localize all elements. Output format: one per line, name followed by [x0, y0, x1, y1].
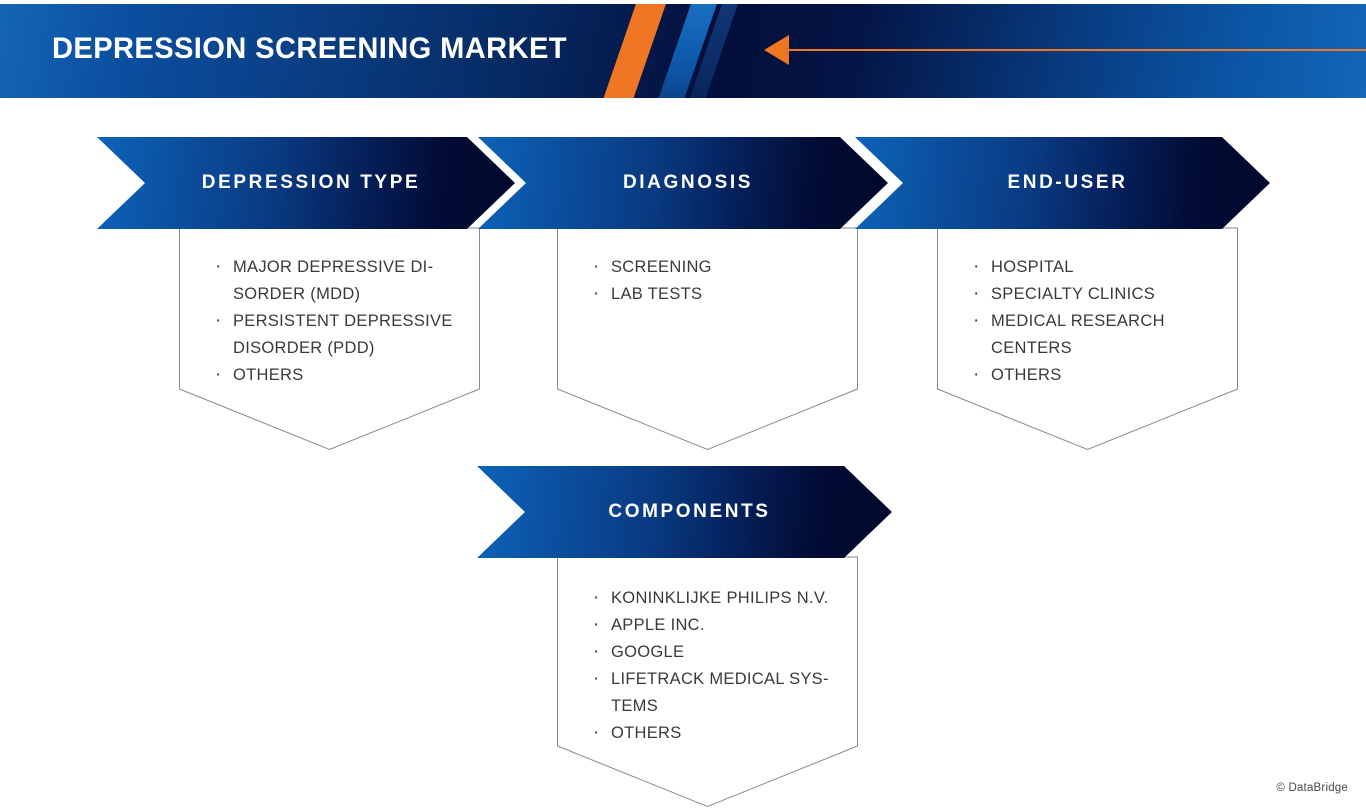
- list-item: PERSISTENT DEPRESSIVE DISORDER (PDD): [213, 308, 466, 362]
- section-body-depression-type: MAJOR DEPRESSIVE DI-SORDER (MDD) PERSIST…: [179, 228, 480, 450]
- section-list-end-user: HOSPITAL SPECIALTY CLINICS MEDICAL RESEA…: [937, 228, 1238, 389]
- list-item: OTHERS: [213, 362, 466, 389]
- list-item: HOSPITAL: [971, 254, 1224, 281]
- list-item: SPECIALTY CLINICS: [971, 281, 1224, 308]
- section-title-diagnosis: DIAGNOSIS: [583, 170, 783, 196]
- section-header-end-user[interactable]: END-USER: [855, 137, 1270, 229]
- list-item: APPLE INC.: [591, 612, 844, 639]
- copyright-notice: © DataBridge: [1276, 782, 1348, 794]
- section-title-depression-type: DEPRESSION TYPE: [162, 170, 451, 196]
- section-header-diagnosis[interactable]: DIAGNOSIS: [478, 137, 888, 229]
- list-item: KONINKLIJKE PHILIPS N.V.: [591, 585, 844, 612]
- section-body-end-user: HOSPITAL SPECIALTY CLINICS MEDICAL RESEA…: [937, 228, 1238, 450]
- section-body-components: KONINKLIJKE PHILIPS N.V. APPLE INC. GOOG…: [557, 557, 858, 807]
- section-list-diagnosis: SCREENING LAB TESTS: [557, 228, 858, 308]
- section-list-depression-type: MAJOR DEPRESSIVE DI-SORDER (MDD) PERSIST…: [179, 228, 480, 389]
- list-item: MEDICAL RESEARCH CENTERS: [971, 308, 1224, 362]
- section-title-components: COMPONENTS: [568, 499, 800, 525]
- section-title-end-user: END-USER: [967, 170, 1157, 196]
- arrow-line: [786, 49, 1366, 51]
- list-item: MAJOR DEPRESSIVE DI-SORDER (MDD): [213, 254, 466, 308]
- section-header-depression-type[interactable]: DEPRESSION TYPE: [97, 137, 515, 229]
- header-banner: DEPRESSION SCREENING MARKET: [0, 4, 1366, 98]
- list-item: SCREENING: [591, 254, 844, 281]
- infographic-canvas: DEPRESSION SCREENING MARKET DEPRESSION T…: [0, 0, 1366, 808]
- list-item: GOOGLE: [591, 639, 844, 666]
- page-title: DEPRESSION SCREENING MARKET: [52, 32, 567, 66]
- list-item: LIFETRACK MEDICAL SYS-TEMS: [591, 666, 844, 720]
- list-item: OTHERS: [591, 720, 844, 747]
- section-list-components: KONINKLIJKE PHILIPS N.V. APPLE INC. GOOG…: [557, 557, 858, 747]
- list-item: LAB TESTS: [591, 281, 844, 308]
- list-item: OTHERS: [971, 362, 1224, 389]
- section-body-diagnosis: SCREENING LAB TESTS: [557, 228, 858, 450]
- section-header-components[interactable]: COMPONENTS: [477, 466, 892, 558]
